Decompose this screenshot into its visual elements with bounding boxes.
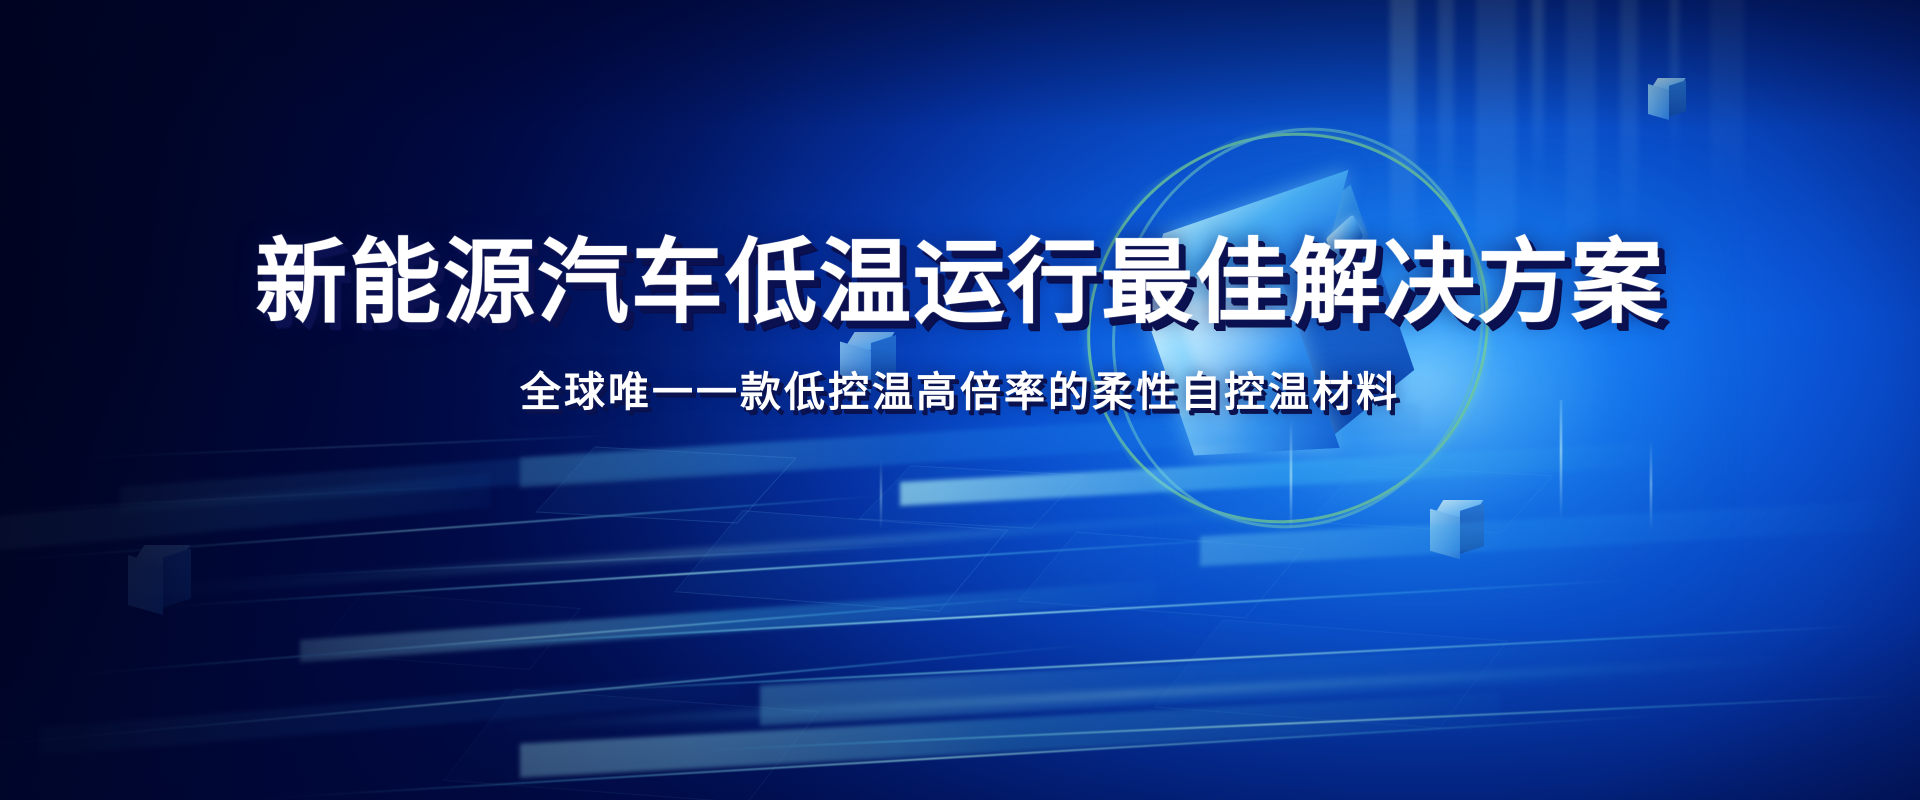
- hero-text-block: 新能源汽车低温运行最佳解决方案 全球唯一一款低控温高倍率的柔性自控温材料: [0, 236, 1920, 418]
- page-title: 新能源汽车低温运行最佳解决方案: [0, 236, 1920, 332]
- page-subtitle: 全球唯一一款低控温高倍率的柔性自控温材料: [0, 358, 1920, 418]
- hero-banner: 新能源汽车低温运行最佳解决方案 全球唯一一款低控温高倍率的柔性自控温材料: [0, 0, 1920, 800]
